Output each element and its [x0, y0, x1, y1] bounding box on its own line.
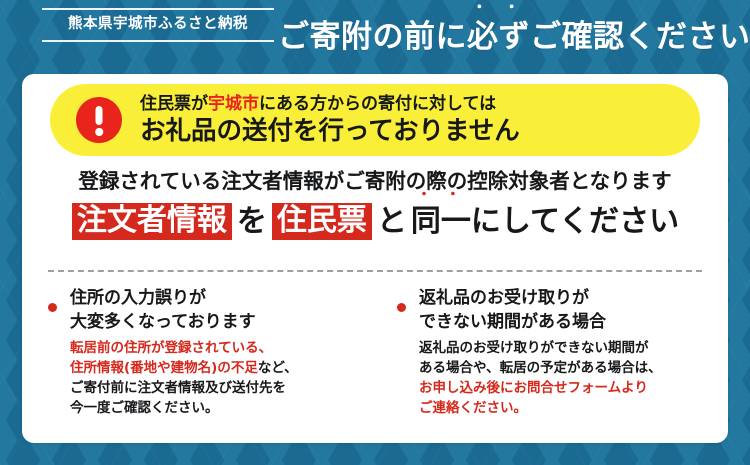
note-column-delivery-period: 返礼品のお受け取りが できない期間がある場合 返礼品のお受け取りができない期間が… [377, 286, 728, 436]
note-title: 住所の入力誤りが 大変多くなっております [70, 286, 369, 334]
page-title-part2: ご確認ください [530, 19, 750, 55]
note-body-segment: など、 [258, 360, 298, 376]
note-body: 転居前の住所が登録されている、 住所情報(番地や建物名)の不足など、 ご寄付前に… [70, 339, 369, 419]
alert-box: 住民票が宇城市にある方からの寄付に対しては お礼品の送付を行っておりません [50, 84, 700, 156]
exclamation-circle-icon [76, 97, 122, 143]
note-title: 返礼品のお受け取りが できない期間がある場合 [419, 286, 718, 334]
notice-banner: 熊本県宇城市ふるさと納税 ご寄附の前に必ずご確認ください 住民票が宇城市にある方… [0, 0, 750, 465]
brand-block: 熊本県宇城市ふるさと納税 [42, 8, 274, 42]
alert-line-1-part1: 住民票が [140, 94, 208, 114]
notes-columns: 住所の入力誤りが 大変多くなっております 転居前の住所が登録されている、 住所情… [22, 286, 728, 436]
message-emphasis-identical: 同一 [411, 204, 471, 239]
note-body-line: 住所情報(番地や建物名)の不足など、 [70, 359, 369, 379]
alert-line-1-highlight: 宇城市 [208, 94, 259, 114]
note-body-line: ご連絡ください。 [419, 399, 718, 419]
page-title-emphasis: 必ず [467, 19, 530, 55]
note-body-line: 返礼品のお受け取りができない期間が [419, 339, 718, 359]
brand-label: 熊本県宇城市ふるさと納税 [68, 10, 248, 40]
content-card: 住民票が宇城市にある方からの寄付に対しては お礼品の送付を行っておりません 登録… [22, 74, 728, 443]
alert-text-block: 住民票が宇城市にある方からの寄付に対しては お礼品の送付を行っておりません [140, 94, 520, 146]
note-body-segment: 転居前の住所が登録されている、 [70, 340, 272, 356]
banner-header: 熊本県宇城市ふるさと納税 ご寄附の前に必ずご確認ください [0, 0, 750, 74]
alert-line-1-part2: にある方からの寄付に対しては [259, 94, 496, 114]
note-body-line: 今一度ご確認ください。 [70, 399, 369, 419]
page-title-part1: ご寄附の前に [278, 19, 467, 55]
note-title-line-2: できない期間がある場合 [419, 310, 718, 334]
message-line-1: 登録されている注文者情報がご寄附の際の控除対象者となります [22, 169, 728, 194]
highlight-chip-orderer-info: 注文者情報 [72, 203, 232, 241]
message-tail: にしてください [471, 204, 679, 239]
note-body-line: お申し込み後にお問合せフォームより [419, 379, 718, 399]
message-connector-2: と [373, 204, 411, 239]
message-connector-1: を [233, 204, 271, 239]
headline-block: ご寄附の前に必ずご確認ください [278, 0, 750, 74]
main-message: 登録されている注文者情報がご寄附の際の控除対象者となります 注文者情報 を 住民… [22, 169, 728, 240]
brand-rule-top [42, 8, 274, 10]
alert-line-1: 住民票が宇城市にある方からの寄付に対しては [140, 94, 520, 115]
red-dot-bullet [48, 303, 57, 312]
note-body-segment: 住所情報(番地や建物名)の不足 [70, 360, 258, 376]
note-title-line-1: 返礼品のお受け取りが [419, 286, 718, 310]
brand-rule-bottom [42, 40, 274, 42]
note-title-line-2: 大変多くなっております [70, 310, 369, 334]
note-title-line-1: 住所の入力誤りが [70, 286, 369, 310]
note-body-line: ある場合や、転居の予定がある場合は、 [419, 359, 718, 379]
note-body-line: 転居前の住所が登録されている、 [70, 339, 369, 359]
red-dot-bullet [397, 303, 406, 312]
dashed-divider [48, 270, 702, 272]
note-column-address-errors: 住所の入力誤りが 大変多くなっております 転居前の住所が登録されている、 住所情… [22, 286, 377, 436]
message-line-2: 注文者情報 を 住民票 と 同一 にしてください [22, 203, 728, 241]
note-body-line: ご寄付前に注文者情報及び送付先を [70, 379, 369, 399]
alert-line-2: お礼品の送付を行っておりません [140, 116, 520, 146]
page-title: ご寄附の前に必ずご確認ください [278, 22, 750, 53]
note-body: 返礼品のお受け取りができない期間が ある場合や、転居の予定がある場合は、 お申し… [419, 339, 718, 419]
highlight-chip-residence-certificate: 住民票 [272, 203, 372, 241]
